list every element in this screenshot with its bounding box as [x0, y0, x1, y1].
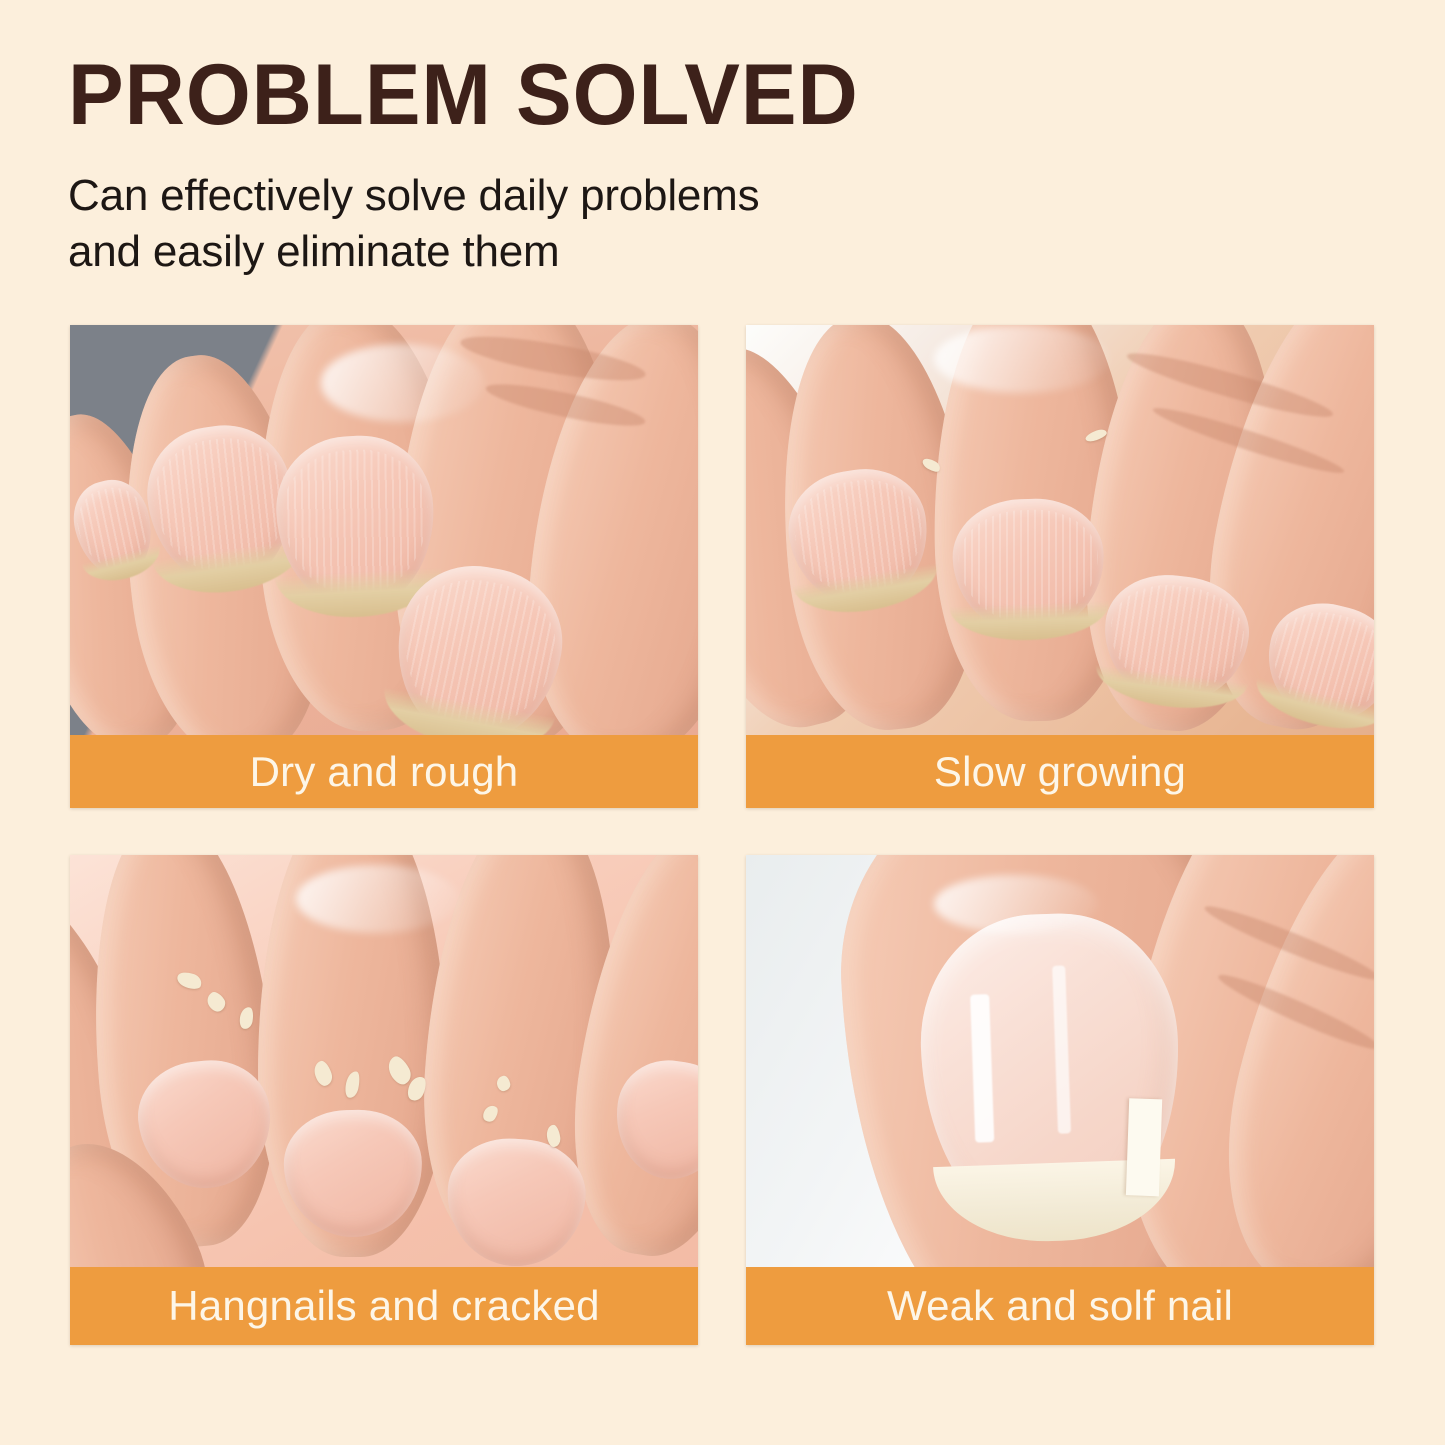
subtitle-line-1: Can effectively solve daily problems: [68, 168, 1368, 224]
problem-card: Weak and solf nail: [746, 855, 1374, 1345]
problem-card: Dry and rough: [70, 325, 698, 808]
card-caption-label: Dry and rough: [250, 751, 519, 793]
card-caption-bar: Slow growing: [746, 735, 1374, 808]
card-caption-label: Slow growing: [934, 751, 1186, 793]
problem-card: Slow growing: [746, 325, 1374, 808]
page-title: PROBLEM SOLVED: [68, 52, 1329, 138]
card-caption-label: Hangnails and cracked: [168, 1285, 599, 1327]
card-caption-bar: Hangnails and cracked: [70, 1267, 698, 1345]
subtitle-line-2: and easily eliminate them: [68, 224, 1368, 280]
card-caption-bar: Weak and solf nail: [746, 1267, 1374, 1345]
card-caption-label: Weak and solf nail: [887, 1285, 1233, 1327]
problem-card-grid: Dry and rough: [70, 325, 1376, 1345]
problem-card: Hangnails and cracked: [70, 855, 698, 1345]
problem-solved-infographic: PROBLEM SOLVED Can effectively solve dai…: [0, 0, 1445, 1445]
card-caption-bar: Dry and rough: [70, 735, 698, 808]
page-subtitle: Can effectively solve daily problems and…: [68, 138, 1368, 281]
header: PROBLEM SOLVED Can effectively solve dai…: [68, 52, 1368, 281]
